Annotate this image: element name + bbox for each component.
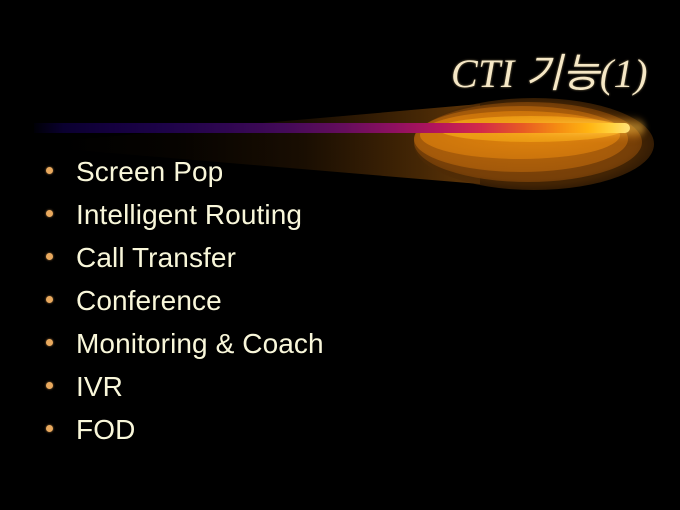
bullet-dot-icon — [46, 382, 53, 389]
slide-title: CTI 기능(1) — [0, 53, 648, 95]
list-item: Intelligent Routing — [46, 201, 324, 244]
comet-halo-ring-1 — [438, 116, 624, 142]
list-item: Conference — [46, 287, 324, 330]
comet-halo-ring-4 — [414, 102, 642, 182]
bullet-dot-icon — [46, 210, 53, 217]
list-item-label: IVR — [76, 373, 123, 401]
comet-halo-ring-3 — [414, 106, 628, 172]
list-item: Screen Pop — [46, 158, 324, 201]
list-item-label: Screen Pop — [76, 158, 223, 186]
list-item: IVR — [46, 373, 324, 416]
bullet-dot-icon — [46, 253, 53, 260]
comet-tip-glow — [470, 116, 645, 140]
comet-halo-ring-5 — [414, 98, 654, 190]
bullet-dot-icon — [46, 425, 53, 432]
feature-bullet-list: Screen Pop Intelligent Routing Call Tran… — [46, 158, 324, 459]
bullet-dot-icon — [46, 296, 53, 303]
list-item-label: Call Transfer — [76, 244, 236, 272]
list-item: Call Transfer — [46, 244, 324, 287]
list-item-label: Conference — [76, 287, 222, 315]
list-item-label: Monitoring & Coach — [76, 330, 324, 358]
bullet-dot-icon — [46, 167, 53, 174]
presentation-slide: CTI 기능(1) Screen Pop Intelligent Routing… — [0, 0, 680, 510]
bullet-dot-icon — [46, 339, 53, 346]
list-item-label: FOD — [76, 416, 135, 444]
list-item-label: Intelligent Routing — [76, 201, 302, 229]
list-item: FOD — [46, 416, 324, 459]
comet-gradient-beam — [34, 123, 630, 133]
list-item: Monitoring & Coach — [46, 330, 324, 373]
comet-halo-ring-2 — [420, 111, 620, 159]
